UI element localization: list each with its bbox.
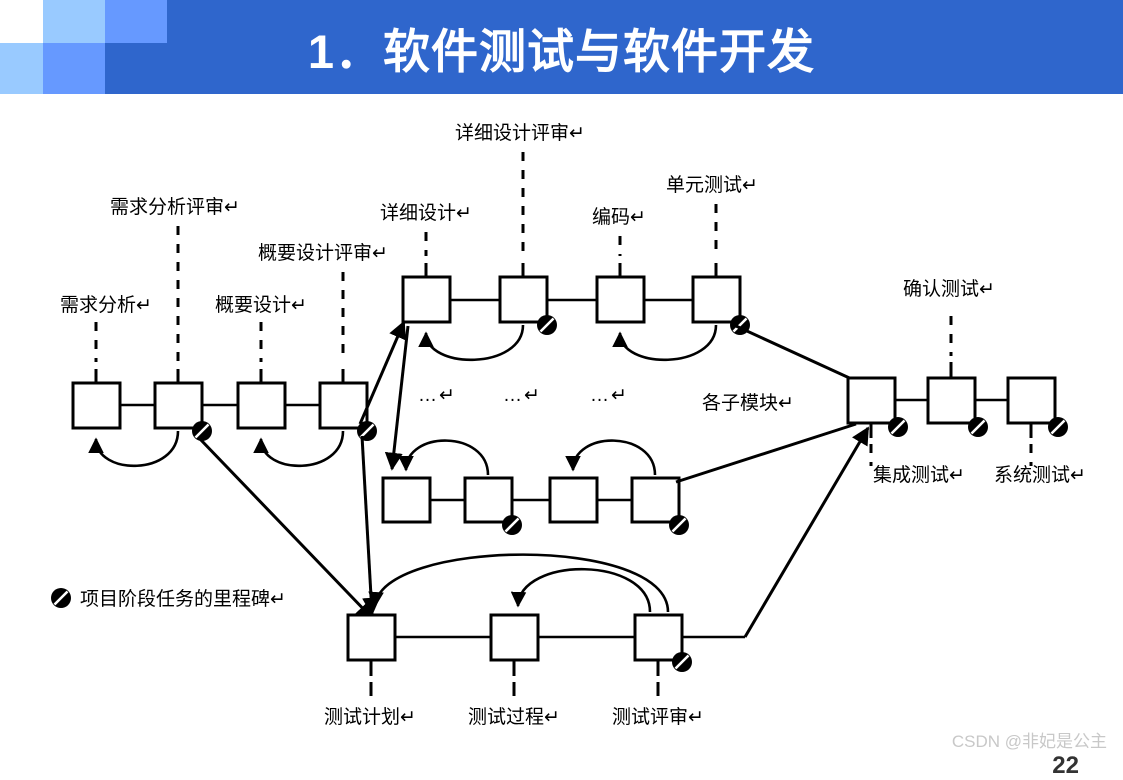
milestone-marker: [669, 515, 689, 535]
label-unit-test: 单元测试↵: [666, 170, 758, 197]
label-integration-test: 集成测试↵: [873, 460, 965, 487]
label-ellipsis-3: …↵: [590, 384, 629, 407]
label-submodules: 各子模块↵: [702, 388, 794, 415]
label-detailed-design-review: 详细设计评审↵: [455, 118, 585, 145]
label-ellipsis-1: …↵: [418, 384, 457, 407]
milestone-marker: [502, 515, 522, 535]
slide-canvas: 1．软件测试与软件开发: [0, 0, 1123, 774]
w-model-diagram: 需求分析↵ 需求分析评审↵ 概要设计↵ 概要设计评审↵ 详细设计↵ 详细设计评审…: [0, 94, 1123, 774]
label-system-test: 系统测试↵: [994, 460, 1086, 487]
milestone-marker: [1048, 417, 1068, 437]
label-coding: 编码↵: [592, 202, 646, 229]
milestone-marker: [888, 417, 908, 437]
milestone-marker: [968, 417, 988, 437]
milestone-marker: [672, 652, 692, 672]
label-detailed-design: 详细设计↵: [380, 198, 472, 225]
milestone-marker-icon: [50, 587, 72, 609]
milestone-marker: [192, 421, 212, 441]
label-requirements-analysis: 需求分析↵: [60, 290, 152, 317]
page-title: 1．软件测试与软件开发: [0, 0, 1123, 94]
label-validation-test: 确认测试↵: [903, 274, 995, 301]
label-outline-design-review: 概要设计评审↵: [258, 238, 388, 265]
label-ellipsis-2: …↵: [503, 384, 542, 407]
legend: 项目阶段任务的里程碑↵: [50, 584, 286, 611]
label-test-review: 测试评审↵: [612, 702, 704, 729]
milestone-marker: [537, 315, 557, 335]
csdn-watermark: CSDN @非妃是公主: [952, 727, 1107, 752]
page-number: 22: [1052, 752, 1079, 780]
legend-text: 项目阶段任务的里程碑↵: [80, 584, 286, 611]
label-test-plan: 测试计划↵: [324, 702, 416, 729]
label-requirements-review: 需求分析评审↵: [110, 192, 240, 219]
label-outline-design: 概要设计↵: [215, 290, 307, 317]
label-test-process: 测试过程↵: [468, 702, 560, 729]
